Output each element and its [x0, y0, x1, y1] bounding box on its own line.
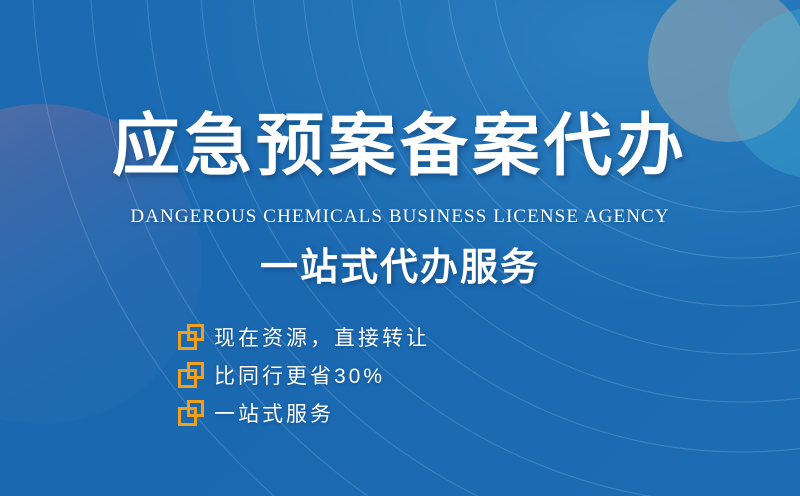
feature-label: 比同行更省30%	[214, 360, 385, 390]
list-item: 一站式服务	[178, 394, 430, 432]
feature-label: 一站式服务	[214, 398, 334, 428]
list-item: 现在资源，直接转让	[178, 318, 430, 356]
page-title: 应急预案备案代办	[0, 112, 800, 180]
promo-banner: 应急预案备案代办 DANGEROUS CHEMICALS BUSINESS LI…	[0, 0, 800, 496]
english-subtitle: DANGEROUS CHEMICALS BUSINESS LICENSE AGE…	[0, 206, 800, 228]
overlapping-squares-icon	[178, 400, 204, 426]
feature-list: 现在资源，直接转让 比同行更省30% 一站式服务	[178, 318, 430, 432]
list-item: 比同行更省30%	[178, 356, 430, 394]
overlapping-squares-icon	[178, 324, 204, 350]
overlapping-squares-icon	[178, 362, 204, 388]
chinese-subtitle: 一站式代办服务	[0, 246, 800, 291]
banner-content: 应急预案备案代办 DANGEROUS CHEMICALS BUSINESS LI…	[0, 0, 800, 496]
feature-label: 现在资源，直接转让	[214, 322, 430, 352]
